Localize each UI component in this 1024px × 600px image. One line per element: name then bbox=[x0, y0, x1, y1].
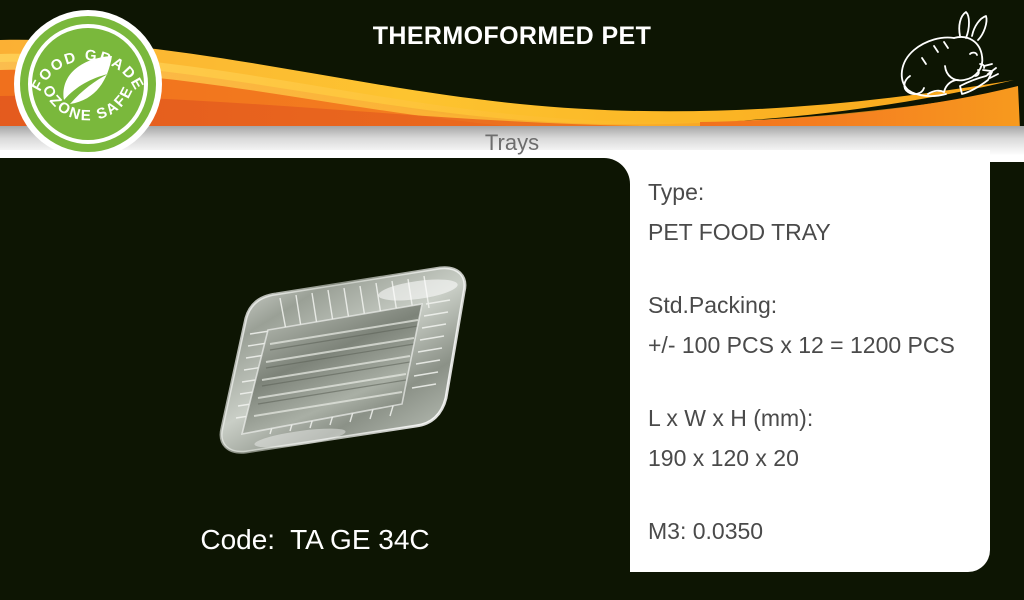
product-image bbox=[150, 238, 500, 478]
spec-dimensions-label: L x W x H (mm): bbox=[648, 398, 978, 438]
spec-group-m3: M3: 0.0350 bbox=[648, 511, 978, 551]
spec-packing-value: +/- 100 PCS x 12 = 1200 PCS bbox=[648, 325, 978, 365]
spec-group-type: Type: PET FOOD TRAY bbox=[648, 172, 978, 252]
spec-m3: M3: 0.0350 bbox=[648, 511, 978, 551]
spec-type-label: Type: bbox=[648, 172, 978, 212]
spec-packing-label: Std.Packing: bbox=[648, 285, 978, 325]
spec-list: Type: PET FOOD TRAY Std.Packing: +/- 100… bbox=[648, 172, 978, 551]
spec-dimensions-value: 190 x 120 x 20 bbox=[648, 438, 978, 478]
spec-group-dimensions: L x W x H (mm): 190 x 120 x 20 bbox=[648, 398, 978, 478]
spec-type-value: PET FOOD TRAY bbox=[648, 212, 978, 252]
product-spec-card: Trays THERMOFORMED PET Type: PET FOOD TR… bbox=[0, 0, 1024, 600]
spec-group-packing: Std.Packing: +/- 100 PCS x 12 = 1200 PCS bbox=[648, 285, 978, 365]
rabbit-icon bbox=[888, 6, 1008, 108]
food-grade-badge: FOOD GRADE OZONE SAFE bbox=[12, 8, 164, 160]
product-code: Code: TA GE 34C bbox=[0, 524, 630, 556]
